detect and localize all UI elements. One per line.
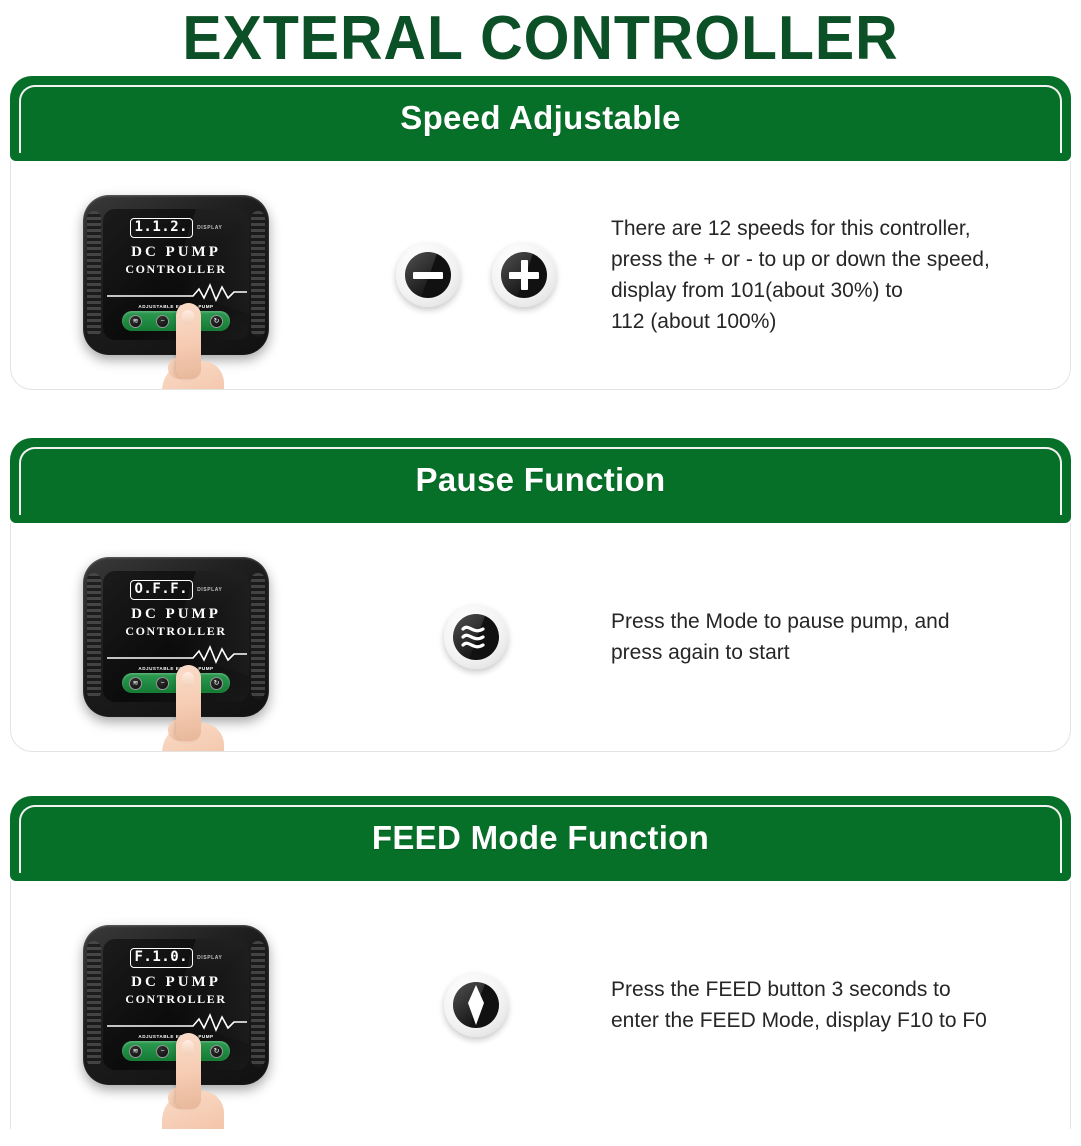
panel-header: Pause Function — [10, 438, 1071, 523]
description-line: display from 101(about 30%) to — [611, 275, 1046, 306]
minus-badge-inner — [405, 252, 451, 298]
waveform-graphic — [103, 281, 249, 303]
waveform-icon — [107, 281, 247, 303]
panel-gap — [0, 390, 1081, 438]
panel-gap — [0, 752, 1081, 796]
panel-shell: F.1.0. DISPLAY DC PUMP CONTROLLER — [10, 881, 1071, 1129]
panel-header-inner: Pause Function — [19, 447, 1062, 515]
panel-title: Pause Function — [416, 461, 666, 498]
panel-header-inner: FEED Mode Function — [19, 805, 1062, 873]
device-minus-button[interactable]: − — [156, 315, 169, 328]
panel-feed-mode-function: FEED Mode Function F.1.0. DISPLAY DC PUM… — [10, 796, 1071, 1129]
seven-segment-display: 1.1.2. — [130, 218, 194, 238]
page-title: EXTERAL CONTROLLER — [27, 0, 1054, 76]
panel-header: FEED Mode Function — [10, 796, 1071, 881]
device-wrap: F.1.0. DISPLAY DC PUMP CONTROLLER — [76, 925, 276, 1085]
panel-body: F.1.0. DISPLAY DC PUMP CONTROLLER — [11, 881, 1070, 1129]
panel-body: O.F.F. DISPLAY DC PUMP CONTROLLER — [11, 523, 1070, 751]
panel-description: There are 12 speeds for this controller,… — [611, 213, 1070, 337]
minus-icon — [413, 272, 443, 279]
device-brand-text: DC PUMP CONTROLLER — [103, 606, 249, 639]
mode-badge[interactable] — [444, 605, 508, 669]
panel-body: 1.1.2. DISPLAY DC PUMP CONTROLLER — [11, 161, 1070, 389]
display-label: DISPLAY — [197, 225, 222, 231]
panel-title: Speed Adjustable — [400, 99, 680, 136]
waveform-graphic — [103, 1011, 249, 1033]
panel-pause-function: Pause Function O.F.F. DISPLAY DC PUMP — [10, 438, 1071, 752]
device-feed-button[interactable]: ↻ — [210, 315, 223, 328]
device-feed-button[interactable]: ↻ — [210, 677, 223, 690]
description-line: press the + or - to up or down the speed… — [611, 244, 1046, 275]
icon-badges — [341, 243, 611, 307]
plus-badge-inner — [501, 252, 547, 298]
minus-badge[interactable] — [396, 243, 460, 307]
feed-badge-inner — [453, 982, 499, 1028]
waveform-icon — [107, 1011, 247, 1033]
display-label: DISPLAY — [197, 587, 222, 593]
device-photo-column: F.1.0. DISPLAY DC PUMP CONTROLLER — [11, 925, 341, 1085]
device-mode-button[interactable]: ≋ — [129, 677, 142, 690]
panel-title: FEED Mode Function — [372, 819, 709, 856]
device-wrap: O.F.F. DISPLAY DC PUMP CONTROLLER — [76, 557, 276, 717]
device-brand-line2: CONTROLLER — [103, 262, 249, 277]
description-line: enter the FEED Mode, display F10 to F0 — [611, 1005, 1046, 1036]
fingernail-shape — [182, 672, 194, 687]
seven-segment-display: F.1.0. — [130, 948, 194, 968]
panel-header-inner: Speed Adjustable — [19, 85, 1062, 153]
panel-shell: 1.1.2. DISPLAY DC PUMP CONTROLLER — [10, 161, 1071, 390]
seven-segment-display: O.F.F. — [130, 580, 194, 600]
device-wrap: 1.1.2. DISPLAY DC PUMP CONTROLLER — [76, 195, 276, 355]
panel-shell: O.F.F. DISPLAY DC PUMP CONTROLLER — [10, 523, 1071, 752]
pointing-finger-graphic — [170, 665, 210, 751]
description-line: Press the FEED button 3 seconds to — [611, 974, 1046, 1005]
description-line: press again to start — [611, 637, 1046, 668]
device-brand-line2: CONTROLLER — [103, 624, 249, 639]
device-minus-button[interactable]: − — [156, 677, 169, 690]
plus-badge[interactable] — [492, 243, 556, 307]
device-brand-text: DC PUMP CONTROLLER — [103, 244, 249, 277]
display-label: DISPLAY — [197, 955, 222, 961]
mode-wave-icon — [459, 620, 493, 654]
device-brand-line2: CONTROLLER — [103, 992, 249, 1007]
device-brand-line1: DC PUMP — [103, 244, 249, 261]
panel-speed-adjustable: Speed Adjustable 1.1.2. DISPLAY DC PUMP — [10, 76, 1071, 390]
feed-arrow-icon — [454, 983, 498, 1027]
feed-badge[interactable] — [444, 973, 508, 1037]
waveform-icon — [107, 643, 247, 665]
panel-description: Press the Mode to pause pump, and press … — [611, 606, 1070, 668]
pointing-finger-graphic — [170, 303, 210, 389]
pointing-finger-graphic — [170, 1033, 210, 1129]
device-feed-button[interactable]: ↻ — [210, 1045, 223, 1058]
fingernail-shape — [182, 1040, 194, 1055]
description-line: There are 12 speeds for this controller, — [611, 213, 1046, 244]
display-row: F.1.0. DISPLAY — [103, 948, 249, 968]
device-mode-button[interactable]: ≋ — [129, 315, 142, 328]
device-brand-line1: DC PUMP — [103, 606, 249, 623]
icon-badges — [341, 605, 611, 669]
device-photo-column: 1.1.2. DISPLAY DC PUMP CONTROLLER — [11, 195, 341, 355]
panel-header: Speed Adjustable — [10, 76, 1071, 161]
waveform-graphic — [103, 643, 249, 665]
display-row: O.F.F. DISPLAY — [103, 580, 249, 600]
plus-icon — [509, 260, 539, 290]
device-brand-line1: DC PUMP — [103, 974, 249, 991]
device-mode-button[interactable]: ≋ — [129, 1045, 142, 1058]
device-minus-button[interactable]: − — [156, 1045, 169, 1058]
description-line: 112 (about 100%) — [611, 306, 1046, 337]
fingernail-shape — [182, 310, 194, 325]
display-row: 1.1.2. DISPLAY — [103, 218, 249, 238]
panel-description: Press the FEED button 3 seconds to enter… — [611, 974, 1070, 1036]
mode-badge-inner — [453, 614, 499, 660]
icon-badges — [341, 973, 611, 1037]
device-photo-column: O.F.F. DISPLAY DC PUMP CONTROLLER — [11, 557, 341, 717]
description-line: Press the Mode to pause pump, and — [611, 606, 1046, 637]
device-brand-text: DC PUMP CONTROLLER — [103, 974, 249, 1007]
